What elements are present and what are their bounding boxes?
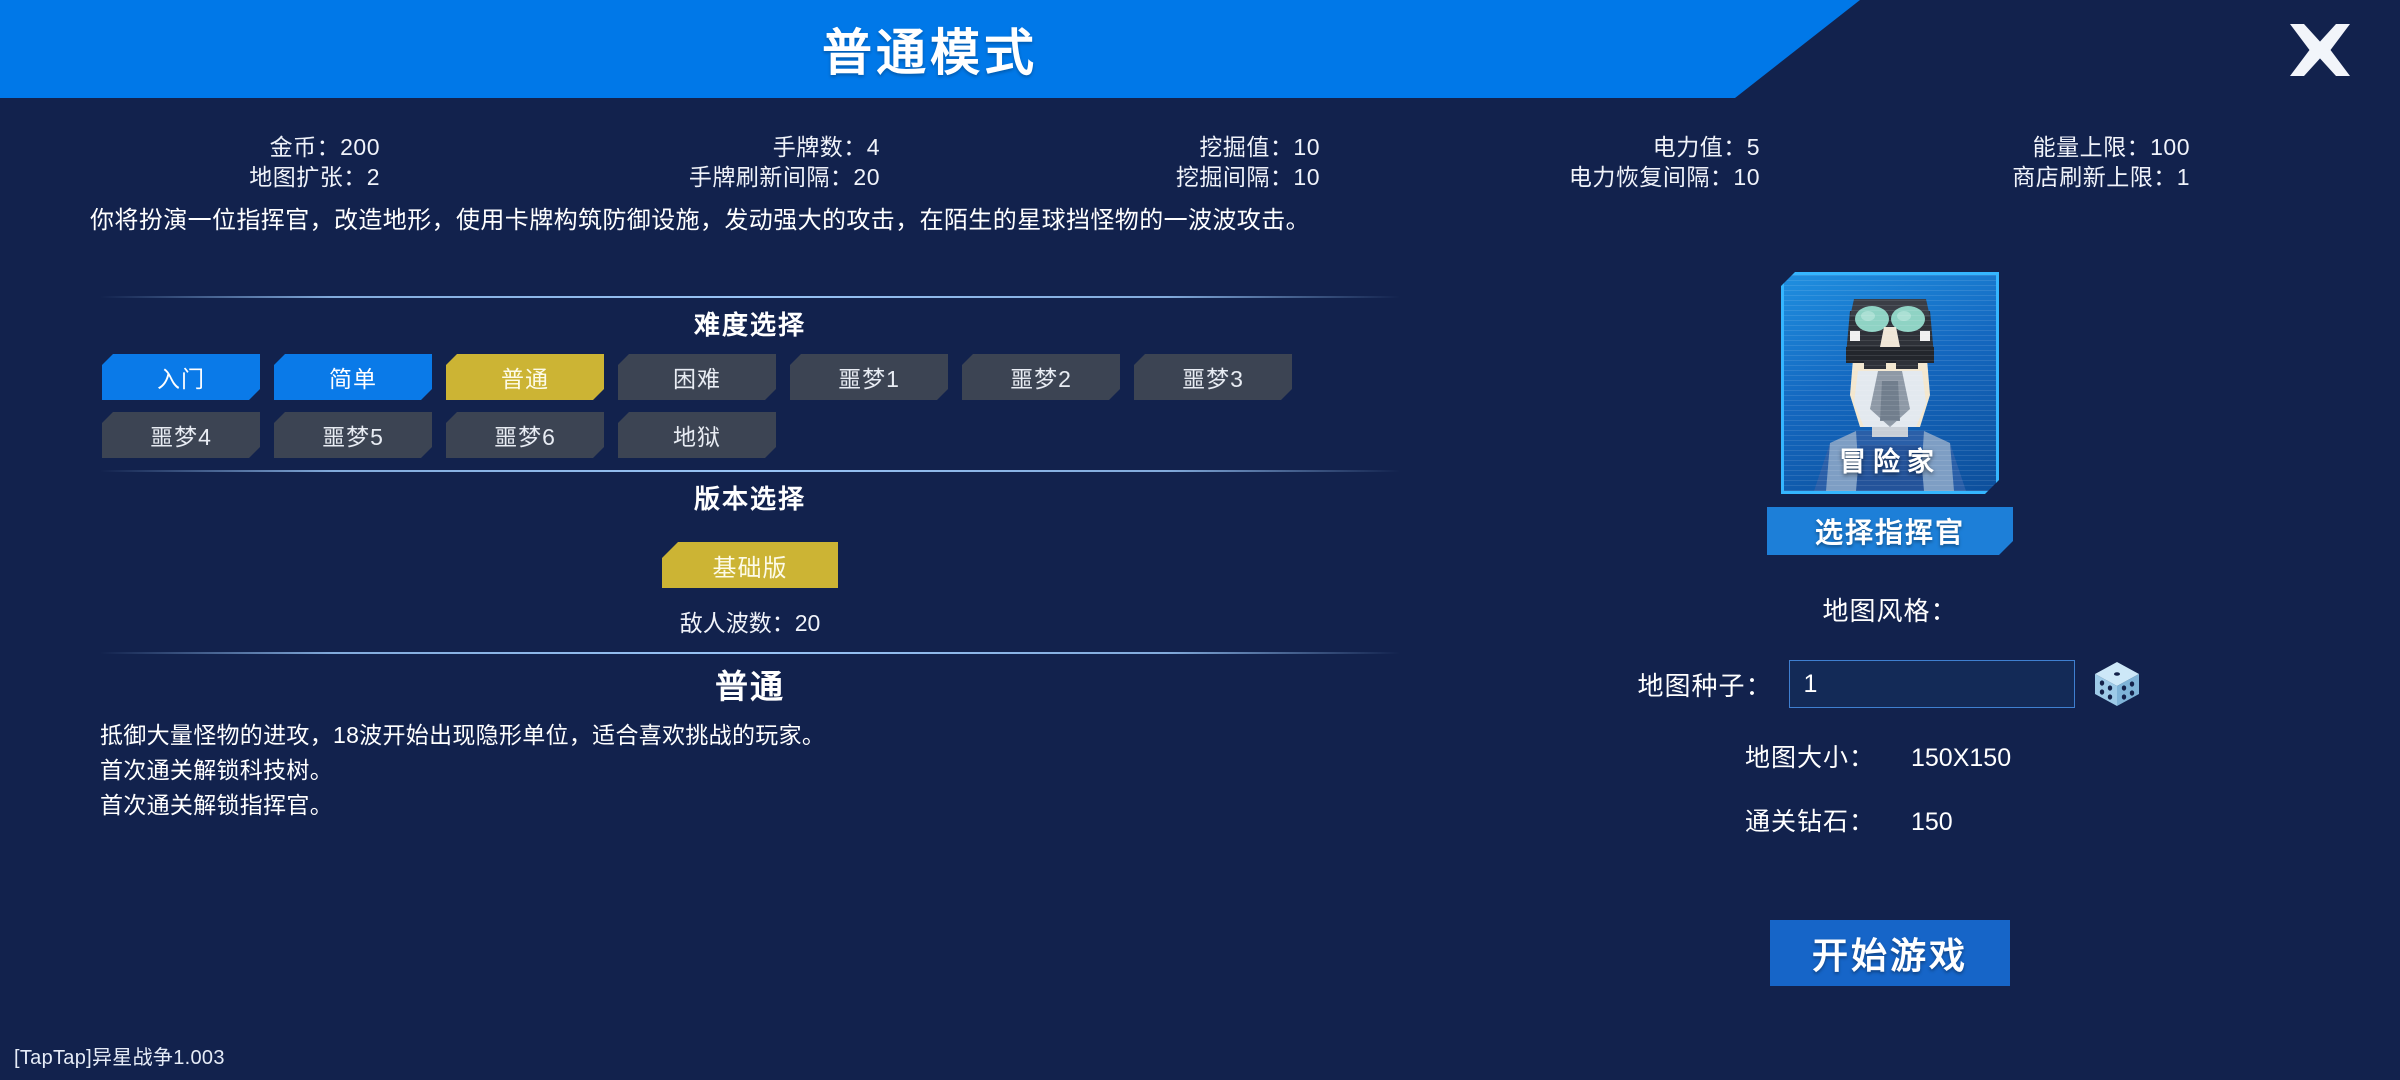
difficulty-button-emeng5[interactable]: 噩梦5 <box>274 412 432 458</box>
stat-line: 商店刷新上限：1 <box>1880 162 2190 192</box>
stats-bar: 金币：200 地图扩张：2 手牌数：4 手牌刷新间隔：20 挖掘值：10 挖掘间… <box>0 132 2400 194</box>
map-size-value: 150X150 <box>1875 744 2075 773</box>
difficulty-button-emeng1[interactable]: 噩梦1 <box>790 354 948 400</box>
difficulty-button-emeng6[interactable]: 噩梦6 <box>446 412 604 458</box>
stat-line: 电力恢复间隔：10 <box>1460 162 1760 192</box>
stat-line: 电力值：5 <box>1460 132 1760 162</box>
stat-line: 手牌刷新间隔：20 <box>560 162 880 192</box>
map-style-label: 地图风格： <box>1520 591 2260 628</box>
start-button-row: 开始游戏 <box>1520 920 2260 986</box>
stat-line: 挖掘值：10 <box>980 132 1320 162</box>
stat-line: 手牌数：4 <box>560 132 880 162</box>
difficulty-button-emeng4[interactable]: 噩梦4 <box>102 412 260 458</box>
stat-power: 电力值：5 电力恢复间隔：10 <box>1460 132 1760 192</box>
map-seed-input[interactable] <box>1789 660 2075 708</box>
commander-portrait[interactable]: 冒险家 <box>1781 272 1999 494</box>
difficulty-button-diyu[interactable]: 地狱 <box>618 412 776 458</box>
left-panel: 难度选择 入门 简单 普通 困难 噩梦1 噩梦2 噩梦3 噩梦4 噩梦5 噩梦6… <box>100 296 1400 823</box>
description-line: 首次通关解锁指挥官。 <box>100 788 1400 823</box>
enemy-waves-text: 敌人波数：20 <box>100 596 1400 652</box>
right-panel: 冒险家 选择指挥官 地图风格： 地图种子： 地图大小： <box>1520 272 2260 986</box>
select-commander-button[interactable]: 选择指挥官 <box>1767 507 2013 555</box>
header-banner: 普通模式 <box>0 0 2400 98</box>
stat-line: 能量上限：100 <box>1880 132 2190 162</box>
stat-line: 挖掘间隔：10 <box>980 162 1320 192</box>
map-seed-row: 地图种子： <box>1520 658 2260 710</box>
version-row: 基础版 <box>100 542 1400 588</box>
mode-description: 抵御大量怪物的进攻，18波开始出现隐形单位，适合喜欢挑战的玩家。 首次通关解锁科… <box>100 718 1400 823</box>
difficulty-button-emeng2[interactable]: 噩梦2 <box>962 354 1120 400</box>
watermark: [TapTap]异星战争1.003 <box>14 1041 225 1070</box>
start-game-button[interactable]: 开始游戏 <box>1770 920 2010 986</box>
commander-card[interactable]: 冒险家 <box>1781 272 1999 494</box>
map-seed-label: 地图种子： <box>1637 666 1772 703</box>
page-title: 普通模式 <box>0 0 1860 98</box>
description-line: 抵御大量怪物的进攻，18波开始出现隐形单位，适合喜欢挑战的玩家。 <box>100 718 1400 753</box>
clear-diamond-label: 通关钻石： <box>1705 802 1875 838</box>
version-button-jichuban[interactable]: 基础版 <box>662 542 838 588</box>
difficulty-button-emeng3[interactable]: 噩梦3 <box>1134 354 1292 400</box>
stat-hand: 手牌数：4 手牌刷新间隔：20 <box>560 132 880 192</box>
stat-line: 金币：200 <box>120 132 380 162</box>
description-line: 首次通关解锁科技树。 <box>100 753 1400 788</box>
dice-icon[interactable] <box>2091 658 2143 710</box>
difficulty-row-1: 入门 简单 普通 困难 噩梦1 噩梦2 噩梦3 <box>100 354 1400 400</box>
stat-dig: 挖掘值：10 挖掘间隔：10 <box>980 132 1320 192</box>
stat-gold: 金币：200 地图扩张：2 <box>120 132 380 192</box>
clear-diamond-value: 150 <box>1875 808 2075 837</box>
clear-diamond-row: 通关钻石： 150 <box>1520 802 2260 838</box>
difficulty-title: 难度选择 <box>100 298 1400 354</box>
mode-name: 普通 <box>100 654 1400 718</box>
map-size-label: 地图大小： <box>1705 738 1875 774</box>
difficulty-button-putong[interactable]: 普通 <box>446 354 604 400</box>
version-title: 版本选择 <box>100 472 1400 528</box>
difficulty-button-kunnan[interactable]: 困难 <box>618 354 776 400</box>
difficulty-button-jiandan[interactable]: 简单 <box>274 354 432 400</box>
difficulty-button-rumen[interactable]: 入门 <box>102 354 260 400</box>
map-size-row: 地图大小： 150X150 <box>1520 738 2260 774</box>
difficulty-row-2: 噩梦4 噩梦5 噩梦6 地狱 <box>100 412 1400 458</box>
intro-text: 你将扮演一位指挥官，改造地形，使用卡牌构筑防御设施，发动强大的攻击，在陌生的星球… <box>90 200 1310 235</box>
stat-energy: 能量上限：100 商店刷新上限：1 <box>1880 132 2190 192</box>
close-icon[interactable] <box>2284 14 2356 86</box>
commander-name: 冒险家 <box>1784 440 1996 479</box>
stat-line: 地图扩张：2 <box>120 162 380 192</box>
